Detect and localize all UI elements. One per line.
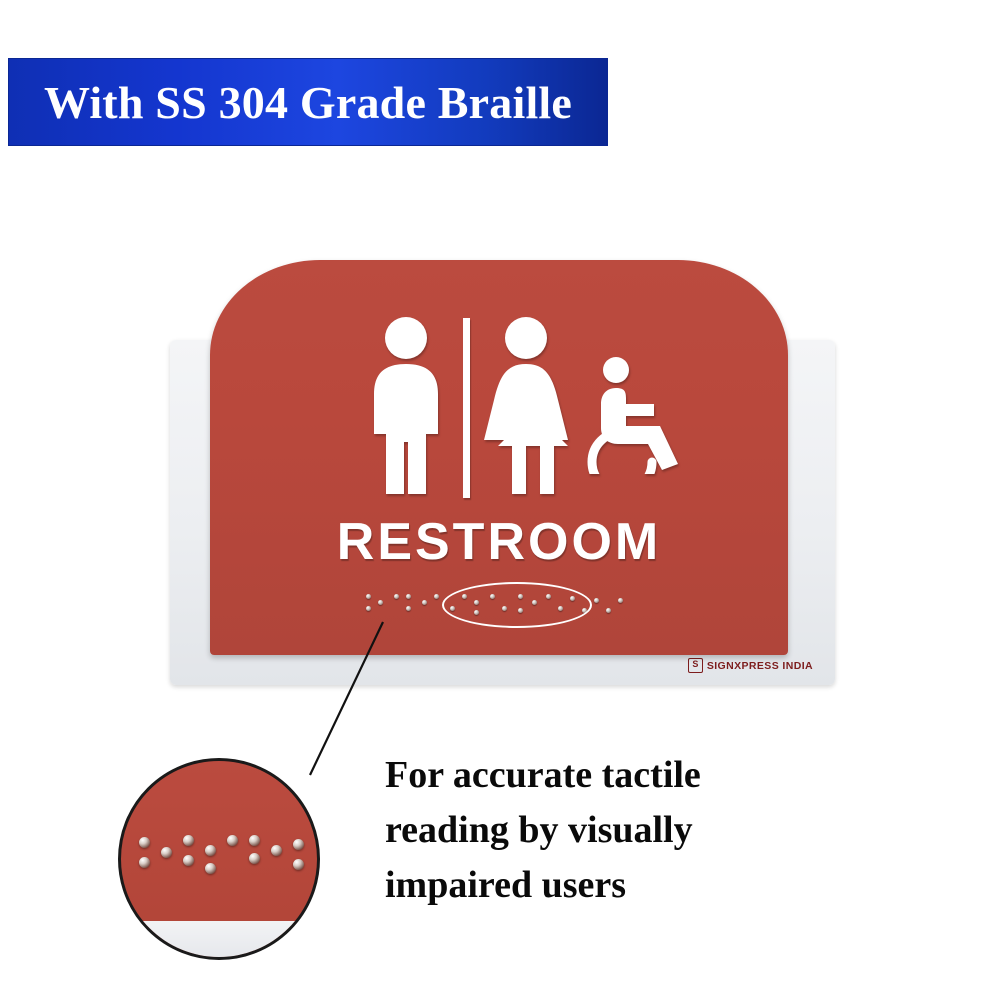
pictogram-divider (463, 318, 470, 498)
headline-text: With SS 304 Grade Braille (44, 76, 572, 129)
caption-line-2: reading by visually (385, 803, 805, 858)
sign-wordmark: RESTROOM (210, 512, 788, 572)
brand-name: SIGNXPRESS INDIA (707, 660, 813, 672)
caption-block: For accurate tactile reading by visually… (385, 748, 805, 913)
braille-magnifier (118, 758, 320, 960)
women-pictogram-icon (478, 316, 574, 498)
caption-line-1: For accurate tactile (385, 748, 805, 803)
wheelchair-accessible-pictogram-icon (582, 354, 692, 474)
headline-banner: With SS 304 Grade Braille (8, 58, 608, 146)
men-pictogram-icon (360, 316, 452, 498)
sign-face-panel: RESTROOM (210, 260, 788, 655)
magnifier-backer-edge (121, 921, 317, 957)
caption-line-3: impaired users (385, 858, 805, 913)
braille-callout-ellipse (442, 582, 592, 628)
pictogram-row (210, 308, 788, 498)
brand-mark: S SIGNXPRESS INDIA (688, 658, 813, 673)
restroom-sign: S SIGNXPRESS INDIA RES (170, 250, 835, 690)
brand-logo-icon: S (688, 658, 703, 673)
magnified-braille-dots (139, 833, 304, 879)
